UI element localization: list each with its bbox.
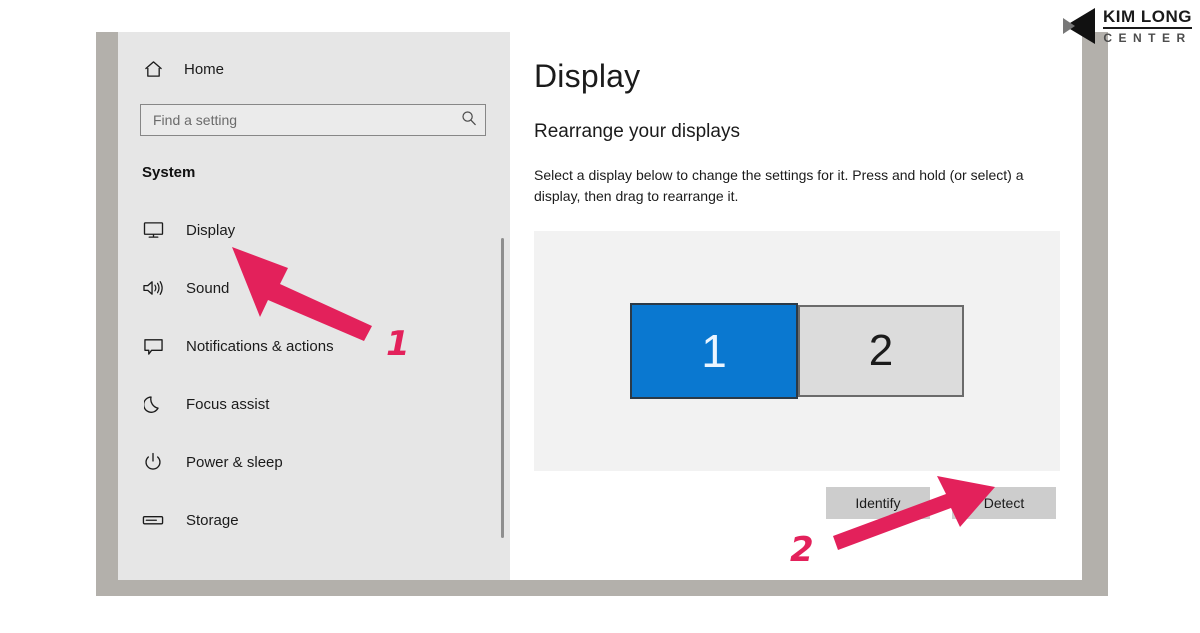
moon-icon: [142, 395, 164, 414]
search-icon[interactable]: [461, 110, 477, 131]
section-heading: Rearrange your displays: [534, 121, 1060, 143]
main-content: Display Rearrange your displays Select a…: [510, 32, 1082, 580]
speaker-icon: [142, 279, 164, 297]
sidebar-item-focus-assist-label: Focus assist: [186, 396, 269, 413]
section-description: Select a display below to change the set…: [534, 165, 1060, 207]
sidebar-item-display-label: Display: [186, 222, 235, 239]
sidebar: Home System: [118, 32, 510, 580]
power-icon: [142, 452, 164, 472]
monitor-icon: [142, 221, 164, 239]
sidebar-item-display[interactable]: Display: [118, 201, 510, 259]
settings-window: Home System: [118, 32, 1082, 580]
sidebar-item-storage-label: Storage: [186, 512, 239, 529]
chevron-left-logo-icon: [1061, 6, 1097, 46]
sidebar-item-sound-label: Sound: [186, 280, 229, 297]
sidebar-item-home-label: Home: [184, 61, 224, 78]
display-tile-1[interactable]: 1: [630, 303, 798, 399]
sidebar-item-home[interactable]: Home: [118, 32, 510, 84]
watermark-text: KIM LONG CENTER: [1103, 8, 1192, 44]
display-tile-2[interactable]: 2: [798, 305, 964, 397]
sidebar-item-notifications-label: Notifications & actions: [186, 338, 334, 355]
page-title: Display: [534, 58, 1060, 95]
sidebar-scrollbar[interactable]: [501, 238, 504, 538]
sidebar-item-notifications[interactable]: Notifications & actions: [118, 317, 510, 375]
display-actions: Identify Detect: [534, 487, 1060, 519]
display-preview-panel: 1 2: [534, 231, 1060, 471]
watermark-logo: KIM LONG CENTER: [1061, 6, 1192, 46]
sidebar-item-focus-assist[interactable]: Focus assist: [118, 375, 510, 433]
watermark-line2: CENTER: [1103, 29, 1192, 44]
sidebar-item-power-sleep[interactable]: Power & sleep: [118, 433, 510, 491]
detect-button[interactable]: Detect: [952, 487, 1056, 519]
display-tile-2-number: 2: [869, 326, 893, 376]
watermark-line1: KIM LONG: [1103, 8, 1192, 29]
drive-icon: [142, 513, 164, 527]
sidebar-section-title: System: [142, 164, 510, 181]
search-box[interactable]: [140, 104, 486, 136]
notification-bubble-icon: [142, 337, 164, 356]
sidebar-nav-list: Display Sound: [118, 201, 510, 549]
search-input[interactable]: [153, 112, 461, 128]
display-tile-1-number: 1: [701, 324, 727, 378]
sidebar-item-power-sleep-label: Power & sleep: [186, 454, 283, 471]
display-arrangement: 1 2: [630, 303, 964, 399]
home-icon: [142, 60, 164, 78]
sidebar-item-storage[interactable]: Storage: [118, 491, 510, 549]
identify-button[interactable]: Identify: [826, 487, 930, 519]
sidebar-item-sound[interactable]: Sound: [118, 259, 510, 317]
